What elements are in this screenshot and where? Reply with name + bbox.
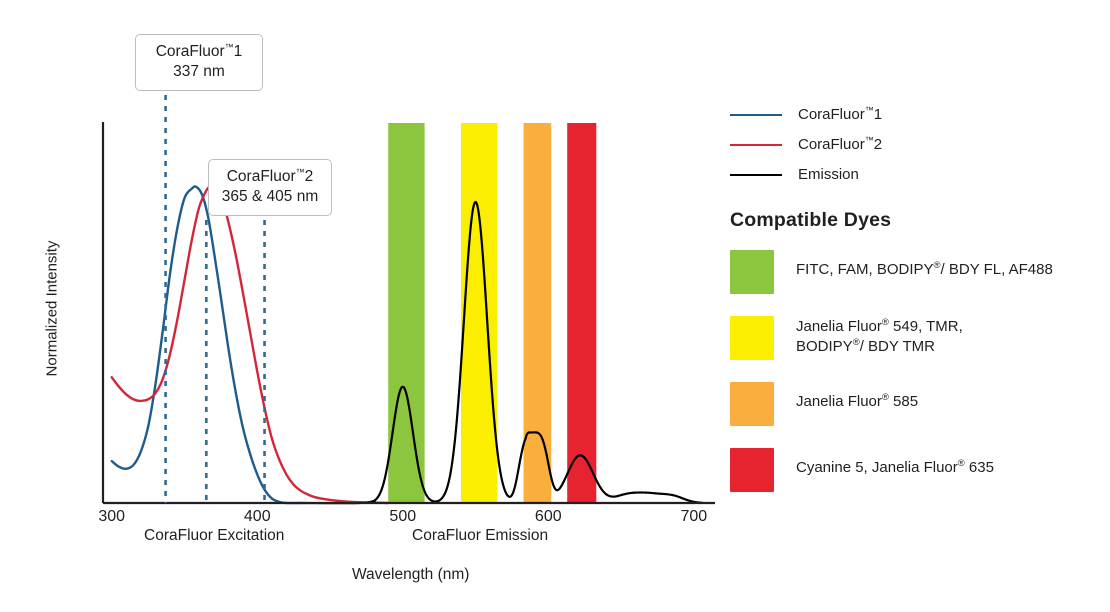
red-band (567, 123, 596, 503)
x-tick-300: 300 (98, 508, 125, 526)
legend-item-corafluor1: CoraFluor™1 (730, 106, 1100, 123)
legend-line-swatch-corafluor2 (730, 144, 782, 146)
dye-label-orange: Janelia Fluor® 585 (796, 382, 918, 412)
x-tick-400: 400 (244, 508, 271, 526)
x-tick-600: 600 (535, 508, 562, 526)
dye-item-orange: Janelia Fluor® 585 (730, 382, 1100, 426)
plot-area: Normalized Intensity Wavelength (nm) Cor… (0, 0, 760, 612)
dye-item-red: Cyanine 5, Janelia Fluor® 635 (730, 448, 1100, 492)
yellow-band (461, 123, 497, 503)
dye-swatch-red (730, 448, 774, 492)
callout-corafluor2: CoraFluor™2 365 & 405 nm (208, 159, 332, 216)
dye-label-green: FITC, FAM, BODIPY®/ BDY FL, AF488 (796, 250, 1053, 280)
dye-label-yellow: Janelia Fluor® 549, TMR,BODIPY®/ BDY TMR (796, 316, 963, 357)
dye-item-yellow: Janelia Fluor® 549, TMR,BODIPY®/ BDY TMR (730, 316, 1100, 360)
x-section-emission-label: CoraFluor Emission (412, 527, 548, 545)
curve-emission (301, 202, 702, 503)
spectra-figure: Normalized Intensity Wavelength (nm) Cor… (0, 0, 1110, 612)
legend-line-swatch-emission (730, 174, 782, 176)
x-tick-700: 700 (680, 508, 707, 526)
callout-corafluor1: CoraFluor™1 337 nm (135, 34, 263, 91)
dye-label-red: Cyanine 5, Janelia Fluor® 635 (796, 448, 994, 478)
y-axis-title: Normalized Intensity (44, 224, 61, 394)
x-tick-500: 500 (389, 508, 416, 526)
dye-swatch-green (730, 250, 774, 294)
legend-label-corafluor1: CoraFluor™1 (798, 106, 882, 123)
callout-corafluor1-line2: 337 nm (148, 62, 250, 82)
legend-label-corafluor2: CoraFluor™2 (798, 136, 882, 153)
callout-corafluor1-line1: CoraFluor™1 (148, 42, 250, 62)
orange-band (524, 123, 552, 503)
x-axis-title: Wavelength (nm) (352, 566, 469, 584)
legend-label-emission: Emission (798, 166, 859, 183)
legend-item-emission: Emission (730, 166, 1100, 183)
compatible-dyes-title: Compatible Dyes (730, 209, 1100, 232)
callout-corafluor2-line2: 365 & 405 nm (221, 187, 319, 207)
dye-item-green: FITC, FAM, BODIPY®/ BDY FL, AF488 (730, 250, 1100, 294)
dye-swatch-yellow (730, 316, 774, 360)
legend-item-corafluor2: CoraFluor™2 (730, 136, 1100, 153)
x-section-excitation-label: CoraFluor Excitation (144, 527, 284, 545)
legend-line-swatch-corafluor1 (730, 114, 782, 116)
green-band (388, 123, 424, 503)
dye-swatch-orange (730, 382, 774, 426)
legend: CoraFluor™1 CoraFluor™2 Emission Compati… (730, 106, 1100, 514)
callout-corafluor2-line1: CoraFluor™2 (221, 167, 319, 187)
